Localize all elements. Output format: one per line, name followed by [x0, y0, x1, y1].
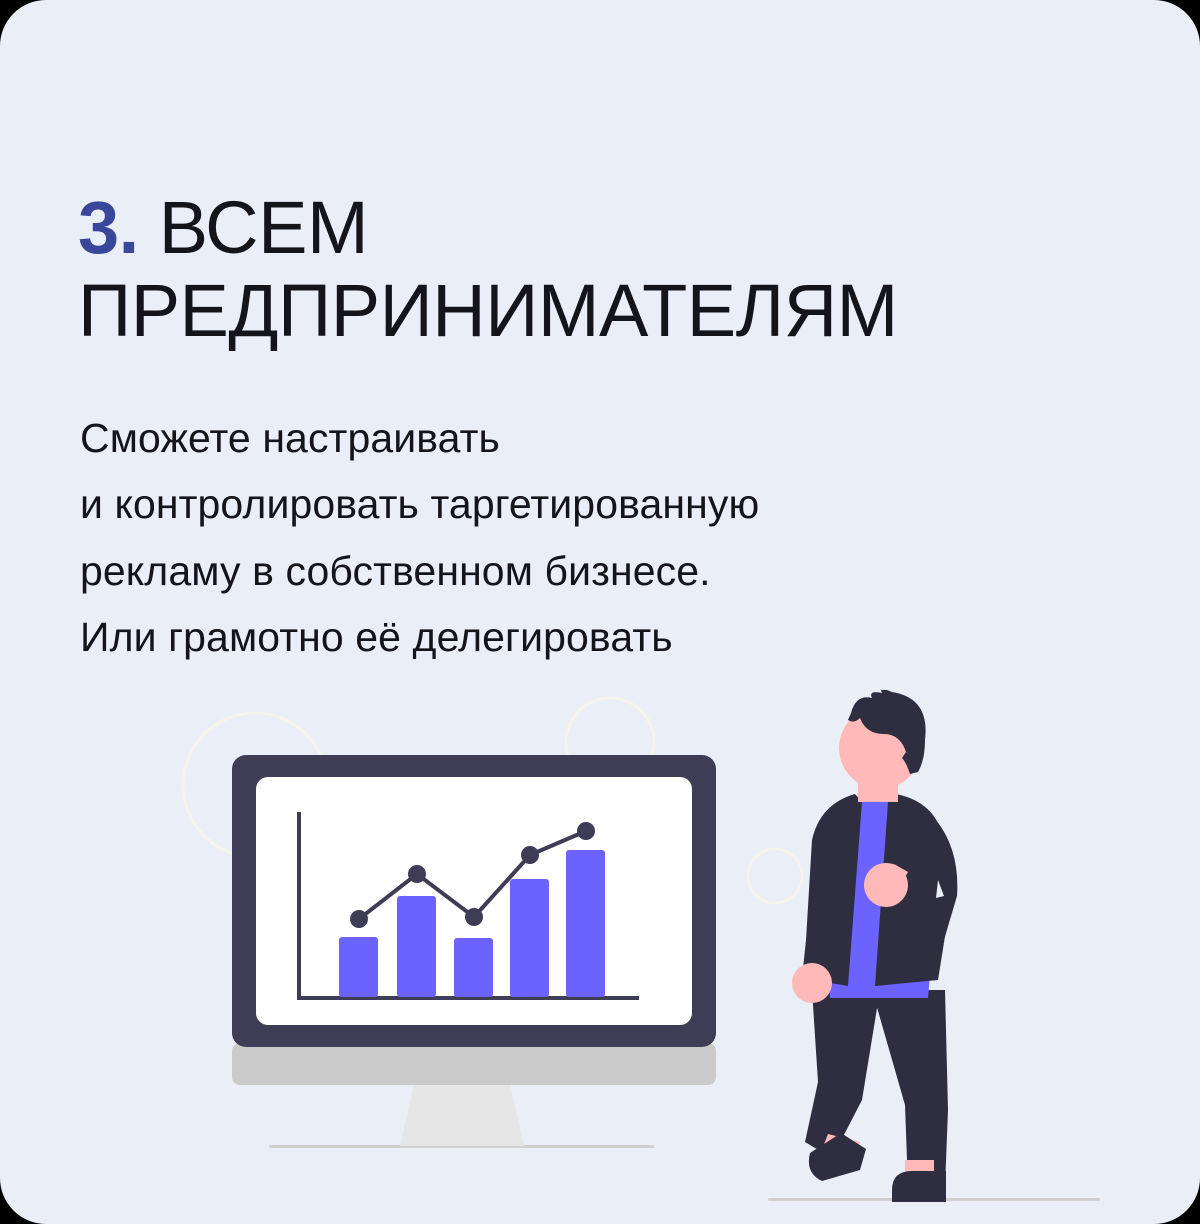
person-front-leg — [805, 990, 880, 1158]
page-title-text: ВСЕМ ПРЕДПРИНИМАТЕЛЯМ — [78, 186, 898, 352]
monitor-stand — [400, 1075, 524, 1146]
body-line-4: Или грамотно её делегировать — [80, 604, 1080, 670]
body-copy: Сможете настраивать и контролировать тар… — [80, 405, 1080, 671]
chart-bar — [397, 896, 436, 997]
chart-marker — [408, 865, 426, 883]
chart-marker — [521, 846, 539, 864]
promo-card: 3. ВСЕМ ПРЕДПРИНИМАТЕЛЯМ Сможете настраи… — [0, 0, 1200, 1224]
monitor-illustration — [232, 755, 716, 1148]
chart-bar — [510, 879, 549, 997]
chart-marker — [350, 910, 368, 928]
chart-marker — [577, 822, 595, 840]
step-number: 3. — [78, 186, 139, 269]
chart-bar — [454, 938, 493, 997]
body-line-3: рекламу в собственном бизнесе. — [80, 538, 1080, 604]
person-back-leg — [872, 990, 948, 1187]
body-line-2: и контролировать таргетированную — [80, 471, 1080, 537]
businessman-illustration — [768, 690, 1100, 1202]
person-free-hand — [792, 963, 832, 1003]
chart-y-axis — [297, 812, 301, 1000]
chart-marker — [465, 908, 483, 926]
body-line-1: Сможете настраивать — [80, 405, 1080, 471]
person-back-shoe — [892, 1171, 946, 1202]
chart-bar — [566, 850, 605, 997]
illustration — [0, 690, 1200, 1224]
page-title: 3. ВСЕМ ПРЕДПРИНИМАТЕЛЯМ — [78, 104, 1038, 353]
chart-bar — [339, 937, 378, 997]
